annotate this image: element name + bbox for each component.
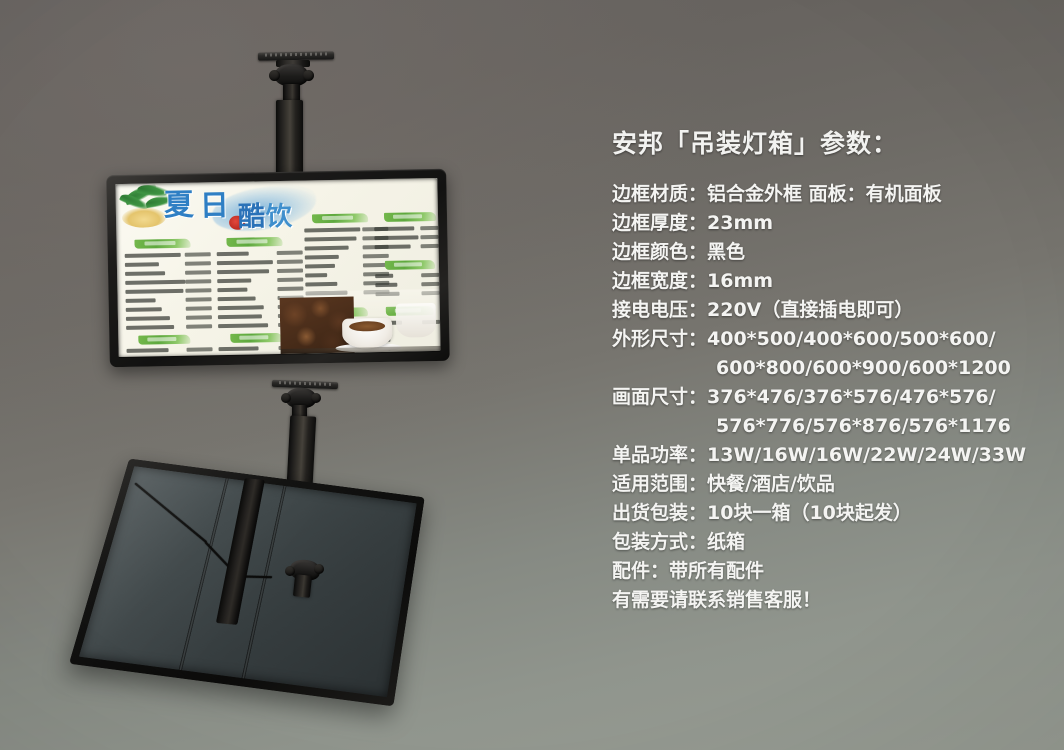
lightbox-back-unit <box>69 459 425 707</box>
joint-knob-top-left <box>269 70 280 81</box>
menu-row <box>127 346 213 355</box>
spec-line: 576*776/576*876/576*1176 <box>612 412 1042 441</box>
menu-row <box>125 287 211 296</box>
menu-row <box>374 234 438 242</box>
menu-row <box>217 259 303 268</box>
spec-line: 有需要请联系销售客服！ <box>612 586 1042 615</box>
menu-row <box>125 260 211 269</box>
menu-title-char-2: 日 <box>200 191 230 221</box>
spec-line: 边框材质：铝合金外框 面板：有机面板 <box>612 180 1042 209</box>
spec-line-list: 边框材质：铝合金外框 面板：有机面板边框厚度：23mm边框颜色：黑色边框宽度：1… <box>612 180 1042 615</box>
menu-row <box>374 225 438 233</box>
spec-line: 画面尺寸：376*476/376*576/476*576/ <box>612 383 1042 412</box>
menu-panel: 夏 日 酷 饮 <box>115 178 440 357</box>
menu-category-header <box>384 212 436 222</box>
menu-category-header <box>385 260 435 270</box>
joint-knob-panel-right <box>314 564 324 574</box>
spec-line: 配件：带所有配件 <box>612 557 1042 586</box>
menu-category-header <box>138 335 190 345</box>
menu-row <box>126 296 212 305</box>
spec-line: 边框厚度：23mm <box>612 209 1042 238</box>
panel-attach-stub <box>293 574 312 598</box>
island-graphic <box>122 207 166 228</box>
menu-row <box>305 262 389 271</box>
spec-line: 外形尺寸：400*500/400*600/500*600/ <box>612 325 1042 354</box>
spec-line: 边框颜色：黑色 <box>612 238 1042 267</box>
menu-title-char-1: 夏 <box>164 191 195 222</box>
joint-knob-top-right <box>303 70 314 81</box>
menu-row <box>125 269 211 278</box>
menu-item-group <box>127 346 214 357</box>
joint-knob-lower-right <box>311 393 321 403</box>
spec-line: 出货包装：10块一箱（10块起发） <box>612 499 1042 528</box>
menu-title-char-3: 酷 <box>238 203 266 231</box>
spec-line: 单品功率：13W/16W/16W/22W/24W/33W <box>612 441 1042 470</box>
spec-line: 600*800/600*900/600*1200 <box>612 354 1042 383</box>
menu-item-group <box>125 251 213 334</box>
menu-row <box>217 250 303 259</box>
spec-line: 适用范围：快餐/酒店/饮品 <box>612 470 1042 499</box>
menu-row <box>126 314 212 323</box>
spec-title: 安邦「吊装灯箱」参数： <box>612 124 1042 160</box>
coffee-cup-back <box>396 303 437 338</box>
menu-title-char-4: 饮 <box>266 204 293 230</box>
menu-row <box>305 253 389 262</box>
joint-knob-panel-left <box>285 566 295 576</box>
menu-row <box>126 305 212 314</box>
menu-category-header <box>312 213 368 223</box>
menu-category-header <box>226 237 282 247</box>
menu-row <box>217 268 303 277</box>
spec-line: 包装方式：纸箱 <box>612 528 1042 557</box>
spec-text-block: 安邦「吊装灯箱」参数： 边框材质：铝合金外框 面板：有机面板边框厚度：23mm边… <box>612 124 1042 615</box>
menu-row <box>125 251 211 260</box>
lightbox-front-unit: 夏 日 酷 饮 <box>106 169 450 367</box>
menu-row <box>125 278 211 287</box>
menu-row <box>217 277 303 286</box>
menu-category-header <box>134 239 190 249</box>
menu-row <box>375 272 439 280</box>
menu-item-group <box>374 225 439 253</box>
spec-line: 边框宽度：16mm <box>612 267 1042 296</box>
product-photo-canvas: 夏 日 酷 饮 <box>0 0 1064 750</box>
menu-category-header <box>230 333 282 343</box>
plate-screw-holes <box>262 52 330 56</box>
menu-row <box>375 243 439 251</box>
coffee-photo <box>279 289 440 354</box>
plate-screw-holes-lower <box>276 381 334 386</box>
joint-knob-lower-left <box>281 393 291 403</box>
menu-row <box>375 281 439 289</box>
menu-row <box>126 323 212 332</box>
spec-line: 接电电压：220V（直接插电即可） <box>612 296 1042 325</box>
